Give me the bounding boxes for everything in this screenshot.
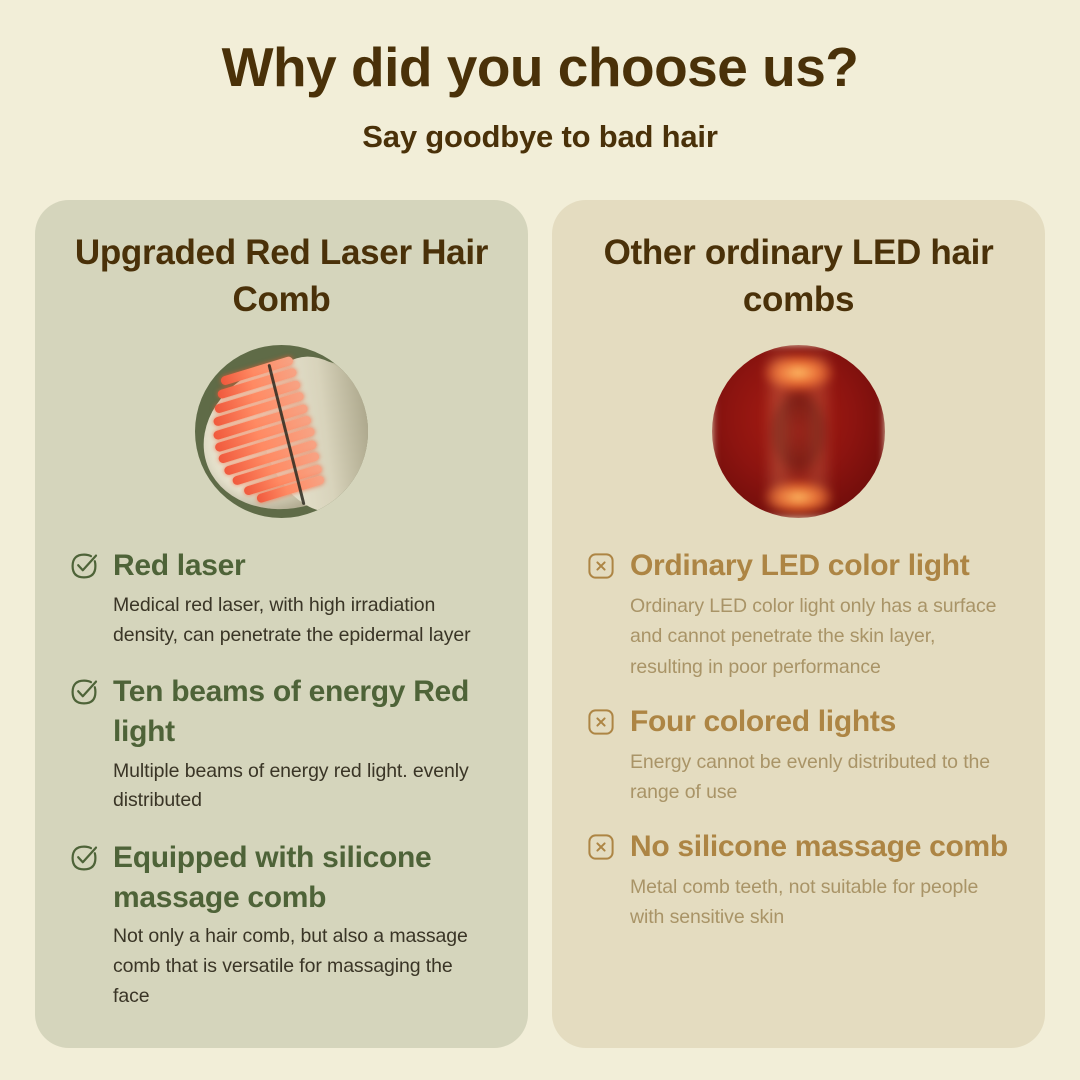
feature-description: Energy cannot be evenly distributed to t… [630, 747, 1011, 808]
card-title-ordinary: Other ordinary LED hair combs [586, 230, 1011, 323]
ordinary-led-red-glow-photo [712, 345, 885, 518]
feature-item: No silicone massage comb Metal comb teet… [586, 827, 1011, 932]
feature-title: Ten beams of energy Red light [113, 672, 494, 751]
check-square-icon [69, 551, 99, 581]
card-other-ordinary-led: Other ordinary LED hair combs Ordinary L… [552, 200, 1045, 1048]
card-upgraded-red-laser: Upgraded Red Laser Hair Comb [35, 200, 528, 1048]
x-square-icon [586, 707, 616, 737]
feature-title: No silicone massage comb [630, 827, 1011, 867]
feature-title: Red laser [113, 546, 494, 586]
feature-item: Ordinary LED color light Ordinary LED co… [586, 546, 1011, 682]
feature-description: Not only a hair comb, but also a massage… [113, 922, 494, 1011]
feature-title: Equipped with silicone massage comb [113, 838, 494, 917]
feature-list-ordinary: Ordinary LED color light Ordinary LED co… [586, 546, 1011, 933]
check-square-icon [69, 843, 99, 873]
comparison-cards: Upgraded Red Laser Hair Comb [35, 200, 1045, 1048]
feature-description: Medical red laser, with high irradiation… [113, 591, 494, 651]
x-square-icon [586, 551, 616, 581]
led-sheen-highlight [771, 355, 826, 507]
feature-item: Four colored lights Energy cannot be eve… [586, 702, 1011, 807]
feature-description: Ordinary LED color light only has a surf… [630, 591, 1011, 682]
feature-text: Ten beams of energy Red light Multiple b… [113, 672, 494, 816]
product-image-wrap-ordinary [586, 345, 1011, 518]
card-title-upgraded: Upgraded Red Laser Hair Comb [69, 230, 494, 323]
page-title: Why did you choose us? [0, 38, 1080, 97]
feature-description: Metal comb teeth, not suitable for peopl… [630, 872, 1011, 933]
feature-item: Red laser Medical red laser, with high i… [69, 546, 494, 650]
feature-text: Red laser Medical red laser, with high i… [113, 546, 494, 650]
feature-item: Equipped with silicone massage comb Not … [69, 838, 494, 1012]
feature-list-upgraded: Red laser Medical red laser, with high i… [69, 546, 494, 1012]
page-subtitle: Say goodbye to bad hair [0, 119, 1080, 155]
feature-text: Ordinary LED color light Ordinary LED co… [630, 546, 1011, 682]
x-square-icon [586, 832, 616, 862]
feature-item: Ten beams of energy Red light Multiple b… [69, 672, 494, 816]
feature-text: Four colored lights Energy cannot be eve… [630, 702, 1011, 807]
red-laser-hair-comb-photo [195, 345, 368, 518]
feature-text: No silicone massage comb Metal comb teet… [630, 827, 1011, 932]
feature-title: Ordinary LED color light [630, 546, 1011, 586]
page-header: Why did you choose us? Say goodbye to ba… [0, 0, 1080, 155]
feature-title: Four colored lights [630, 702, 1011, 742]
product-image-wrap-upgraded [69, 345, 494, 518]
feature-text: Equipped with silicone massage comb Not … [113, 838, 494, 1012]
feature-description: Multiple beams of energy red light. even… [113, 757, 494, 817]
check-square-icon [69, 677, 99, 707]
